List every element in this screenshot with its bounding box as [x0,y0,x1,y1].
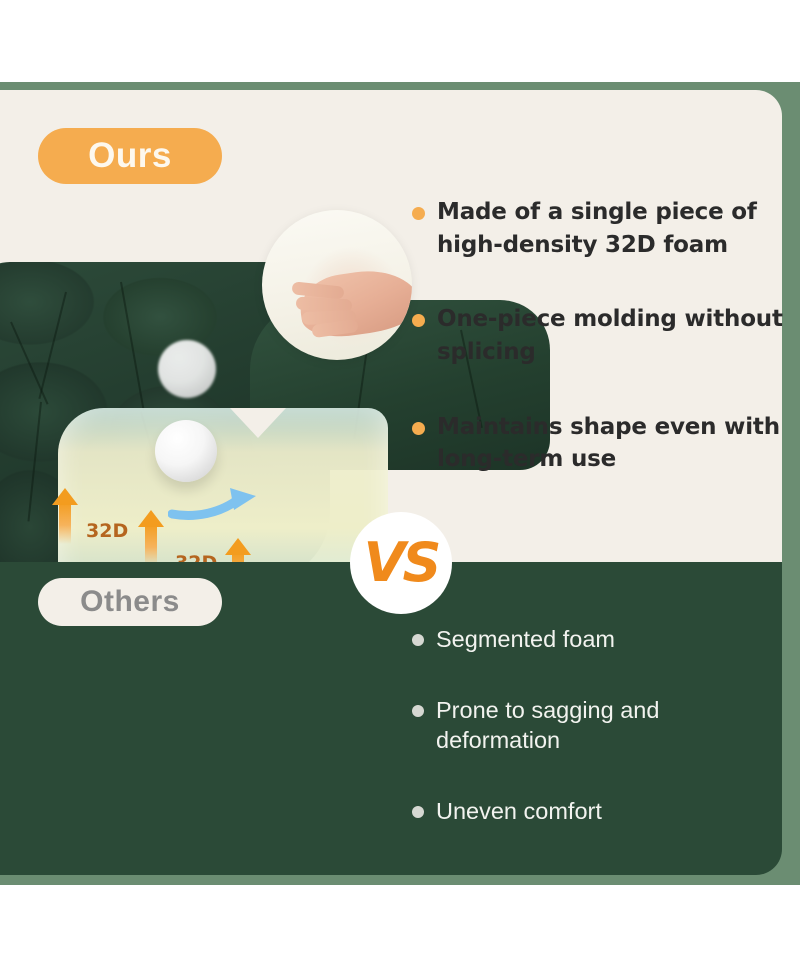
bullet-dot-icon [412,705,424,717]
bullet-dot-icon [412,314,425,327]
hand-pressing-foam-photo [262,210,412,360]
others-bullet-text: Prone to sagging and deformation [436,695,784,756]
bullet-dot-icon [412,634,424,646]
list-item: Segmented foam [412,624,784,655]
list-item: Uneven comfort [412,796,784,827]
rebounding-ball-upper [158,340,216,398]
others-bullet-text: Segmented foam [436,624,615,655]
others-bullet-text: Uneven comfort [436,796,602,827]
list-item: Made of a single piece of high-density 3… [412,196,784,261]
bullet-dot-icon [412,207,425,220]
others-drawbacks-list: Segmented foam Prone to sagging and defo… [412,624,784,866]
versus-label: VS [364,536,439,590]
ours-bullet-text: One-piece molding without splicing [437,303,784,368]
rebound-arrow-1 [52,488,78,548]
density-label-32d-right: 32D [175,552,217,562]
versus-badge-icon: VS [350,512,452,614]
rebound-arrow-2 [138,510,164,562]
others-label-pill: Others [38,578,222,626]
ours-label-pill: Ours [38,128,222,184]
list-item: Prone to sagging and deformation [412,695,784,756]
rebounding-ball-lower [155,420,217,482]
bullet-dot-icon [412,806,424,818]
density-label-32d-left: 32D [86,520,128,542]
bullet-dot-icon [412,422,425,435]
infographic-root: 32D 32D Ours 32D 30D 25D Others [0,0,800,977]
list-item: One-piece molding without splicing [412,303,784,368]
ours-bullet-text: Made of a single piece of high-density 3… [437,196,784,261]
foam-block-notch [230,408,286,438]
list-item: Maintains shape even with long-term use [412,411,784,476]
bounce-back-arrow-icon [168,484,278,524]
ours-benefits-list: Made of a single piece of high-density 3… [412,196,784,518]
ours-bullet-text: Maintains shape even with long-term use [437,411,784,476]
rebound-arrow-3 [225,538,251,562]
